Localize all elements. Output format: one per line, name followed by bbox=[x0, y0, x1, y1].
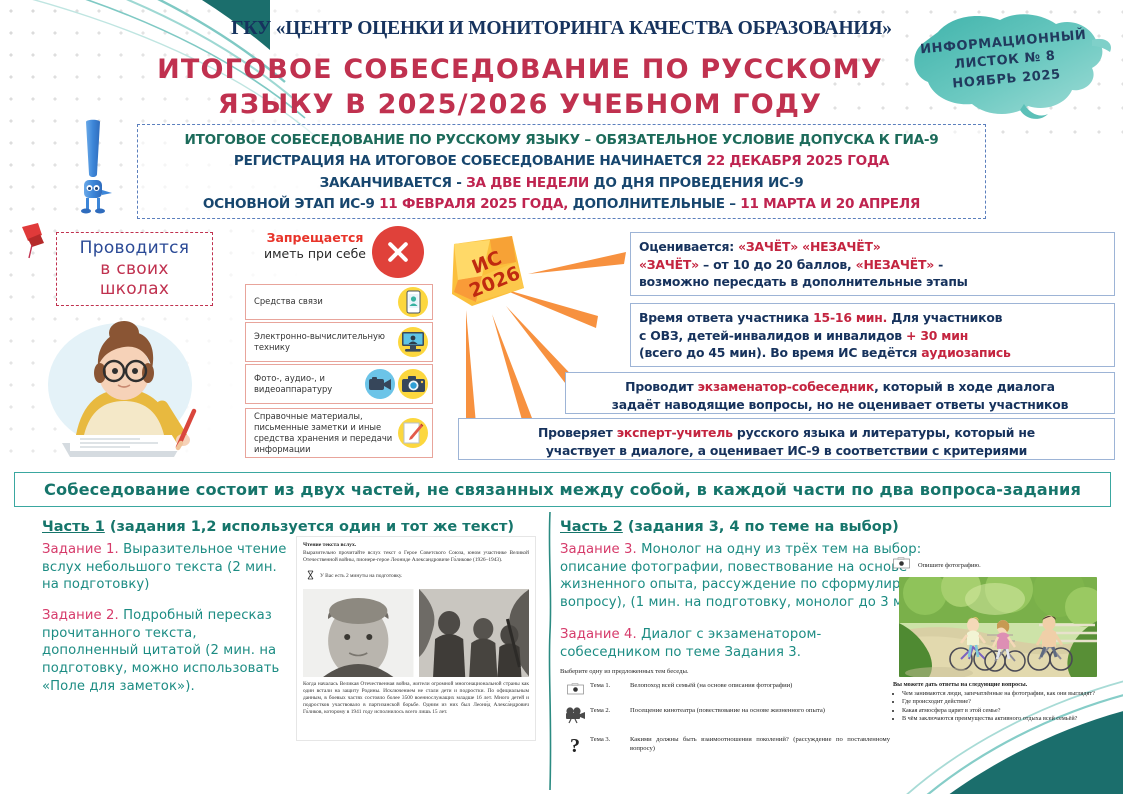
forbidden-item-3: Справочные материалы, письменные заметки… bbox=[245, 408, 433, 458]
forbidden-title-bold: Запрещается bbox=[250, 230, 380, 246]
notepad-icon bbox=[398, 418, 428, 448]
question-mark-icon: ? bbox=[560, 736, 590, 756]
forbidden-item-1: Электронно-вычислительную технику bbox=[245, 322, 433, 362]
info-box-expert: Проверяет эксперт-учитель русского языка… bbox=[458, 418, 1115, 460]
photo-camera-icon bbox=[398, 369, 428, 399]
forbidden-title-rest: иметь при себе bbox=[264, 246, 366, 261]
computer-icon bbox=[398, 327, 428, 357]
sample-photo-card: Опишите фотографию. bbox=[893, 556, 1115, 726]
info-box-timing-line-1: Время ответа участника 15-16 мин. Для уч… bbox=[639, 309, 1106, 327]
theme-2-text: Посещение кинотеатра (повествование на о… bbox=[630, 707, 890, 716]
soldiers-photo bbox=[419, 589, 530, 677]
info-box-expert-line-2: участвует в диалоге, а оценивает ИС-9 в … bbox=[467, 442, 1106, 460]
photo-icon bbox=[893, 556, 910, 574]
theme-1-text: Велопоход всей семьёй (на основе описани… bbox=[630, 682, 890, 691]
forbidden-item-0-label: Средства связи bbox=[250, 296, 398, 307]
part-2-label: Часть 2 bbox=[560, 519, 623, 535]
hourglass-icon bbox=[307, 567, 314, 585]
key-fact-line-2: РЕГИСТРАЦИЯ НА ИТОГОВОЕ СОБЕСЕДОВАНИЕ НА… bbox=[146, 151, 977, 172]
portrait-photo bbox=[303, 589, 414, 677]
film-camera-icon bbox=[560, 707, 590, 729]
task-4-label: Задание 4. bbox=[560, 627, 637, 642]
forbidden-item-2-label: Фото-, аудио-, и видеоаппаратуру bbox=[250, 373, 365, 395]
page-title-line2: ЯЗЫКУ В 2025/2026 УЧЕБНОМ ГОДУ bbox=[150, 88, 890, 123]
forbidden-title: Запрещается иметь при себе bbox=[250, 230, 380, 263]
sample-doc-timer-note: У Вас есть 2 минуты на подготовку. bbox=[320, 573, 402, 579]
part-2-heading: Часть 2 (задания 3, 4 по теме на выбор) bbox=[560, 519, 899, 535]
photo-questions-heading: Вы можете дать ответы на следующие вопро… bbox=[893, 681, 1115, 688]
sample-doc-body: Когда началась Великая Отечественная вой… bbox=[303, 681, 529, 716]
page-title: ИТОГОВОЕ СОБЕСЕДОВАНИЕ ПО РУССКОМУ ЯЗЫКУ… bbox=[150, 53, 890, 122]
pushpin-icon bbox=[16, 219, 56, 259]
theme-1-number: Тема 1. bbox=[590, 682, 630, 689]
page-title-line1: ИТОГОВОЕ СОБЕСЕДОВАНИЕ ПО РУССКОМУ bbox=[150, 53, 890, 88]
key-fact-line-1: ИТОГОВОЕ СОБЕСЕДОВАНИЕ ПО РУССКОМУ ЯЗЫКУ… bbox=[146, 130, 977, 151]
theme-row-3: ? Тема 3. Какими должны быть взаимоотнош… bbox=[560, 736, 890, 756]
task-3-label: Задание 3. bbox=[560, 542, 637, 557]
exclamation-mascot-icon bbox=[70, 118, 116, 218]
info-box-timing-line-2: с ОВЗ, детей-инвалидов и инвалидов + 30 … bbox=[639, 327, 1106, 345]
part-1-label: Часть 1 bbox=[42, 519, 105, 535]
task-4: Задание 4. Диалог с экзаменатором-собесе… bbox=[560, 626, 870, 661]
structure-banner: Собеседование состоит из двух частей, не… bbox=[14, 472, 1111, 507]
key-fact-line-4: ОСНОВНОЙ ЭТАП ИС-9 11 ФЕВРАЛЯ 2025 ГОДА,… bbox=[146, 194, 977, 215]
school-box-line-2: в своих bbox=[100, 259, 168, 280]
poster-root: ГКУ «ЦЕНТР ОЦЕНКИ И МОНИТОРИНГА КАЧЕСТВА… bbox=[0, 0, 1123, 794]
video-camera-icon bbox=[365, 369, 395, 399]
part-2-sub: (задания 3, 4 по теме на выбор) bbox=[623, 519, 899, 535]
task-1: Задание 1. Выразительное чтение вслух не… bbox=[42, 541, 294, 594]
smartphone-icon bbox=[398, 287, 428, 317]
photo-question-1: Чем занимаются люди, запечатлённые на фо… bbox=[902, 690, 1115, 698]
column-divider bbox=[548, 512, 552, 790]
photo-icon bbox=[560, 682, 590, 700]
info-box-examiner-line-1: Проводит экзаменатор-собеседник, который… bbox=[574, 378, 1106, 396]
forbidden-item-2: Фото-, аудио-, и видеоаппаратуру bbox=[245, 364, 433, 404]
info-box-grading-line-3: возможно пересдать в дополнительные этап… bbox=[639, 273, 1106, 291]
theme-3-text: Какими должны быть взаимоотношения покол… bbox=[630, 736, 890, 754]
photo-questions-list: Чем занимаются люди, запечатлённые на фо… bbox=[893, 690, 1115, 723]
key-fact-line-3: ЗАКАНЧИВАЕТСЯ - ЗА ДВЕ НЕДЕЛИ ДО ДНЯ ПРО… bbox=[146, 173, 977, 194]
task-2-label: Задание 2. bbox=[42, 608, 119, 623]
photo-question-2: Где происходит действие? bbox=[902, 698, 1115, 706]
photo-question-4: В чём заключаются преимущества активного… bbox=[902, 715, 1115, 723]
forbidden-item-3-label: Справочные материалы, письменные заметки… bbox=[250, 411, 398, 455]
theme-3-number: Тема 3. bbox=[590, 736, 630, 743]
school-box-line-1: Проводится bbox=[80, 238, 190, 259]
photo-question-3: Какая атмосфера царит в этой семье? bbox=[902, 707, 1115, 715]
theme-row-2: Тема 2. Посещение кинотеатра (повествова… bbox=[560, 707, 890, 729]
info-box-grading-line-2: «ЗАЧЁТ» – от 10 до 20 баллов, «НЕЗАЧЁТ» … bbox=[639, 256, 1106, 274]
school-box-line-3: школах bbox=[100, 279, 169, 300]
part-1-sub: (задания 1,2 используется один и тот же … bbox=[105, 519, 514, 535]
task-2: Задание 2. Подробный пересказ прочитанно… bbox=[42, 607, 297, 695]
forbidden-item-1-label: Электронно-вычислительную технику bbox=[250, 331, 398, 353]
family-bicycle-photo bbox=[899, 577, 1097, 677]
sample-reading-document: Чтение текста вслух. Выразительно прочит… bbox=[296, 536, 536, 741]
part-1-heading: Часть 1 (задания 1,2 используется один и… bbox=[42, 519, 514, 535]
info-box-examiner: Проводит экзаменатор-собеседник, который… bbox=[565, 372, 1115, 414]
info-box-timing: Время ответа участника 15-16 мин. Для уч… bbox=[630, 303, 1115, 367]
theme-row-1: Тема 1. Велопоход всей семьёй (на основе… bbox=[560, 682, 890, 700]
theme-2-number: Тема 2. bbox=[590, 707, 630, 714]
sample-doc-heading: Чтение текста вслух. bbox=[303, 542, 529, 548]
sample-doc-photos bbox=[303, 589, 529, 677]
info-box-grading-line-1: Оценивается: «ЗАЧЁТ» «НЕЗАЧЁТ» bbox=[639, 238, 1106, 256]
info-box-grading: Оценивается: «ЗАЧЁТ» «НЕЗАЧЁТ» «ЗАЧЁТ» –… bbox=[630, 232, 1115, 296]
sample-doc-intro: Выразительно прочитайте вслух текст о Ге… bbox=[303, 550, 529, 564]
info-box-expert-line-1: Проверяет эксперт-учитель русского языка… bbox=[467, 424, 1106, 442]
themes-card: Выберите одну из предложенных тем беседы… bbox=[560, 668, 890, 790]
themes-lead: Выберите одну из предложенных тем беседы… bbox=[560, 668, 890, 675]
forbidden-item-0: Средства связи bbox=[245, 284, 433, 320]
key-facts-box: ИТОГОВОЕ СОБЕСЕДОВАНИЕ ПО РУССКОМУ ЯЗЫКУ… bbox=[137, 124, 986, 219]
task-1-label: Задание 1. bbox=[42, 542, 119, 557]
photo-caption: Опишите фотографию. bbox=[918, 562, 981, 569]
held-at-school-box: Проводится в своих школах bbox=[56, 232, 213, 306]
info-box-examiner-line-2: задаёт наводящие вопросы, но не оценивае… bbox=[574, 396, 1106, 414]
info-box-timing-line-3: (всего до 45 мин). Во время ИС ведётся а… bbox=[639, 344, 1106, 362]
structure-banner-text: Собеседование состоит из двух частей, не… bbox=[44, 480, 1081, 499]
close-icon bbox=[372, 226, 424, 278]
student-illustration bbox=[32, 315, 217, 470]
